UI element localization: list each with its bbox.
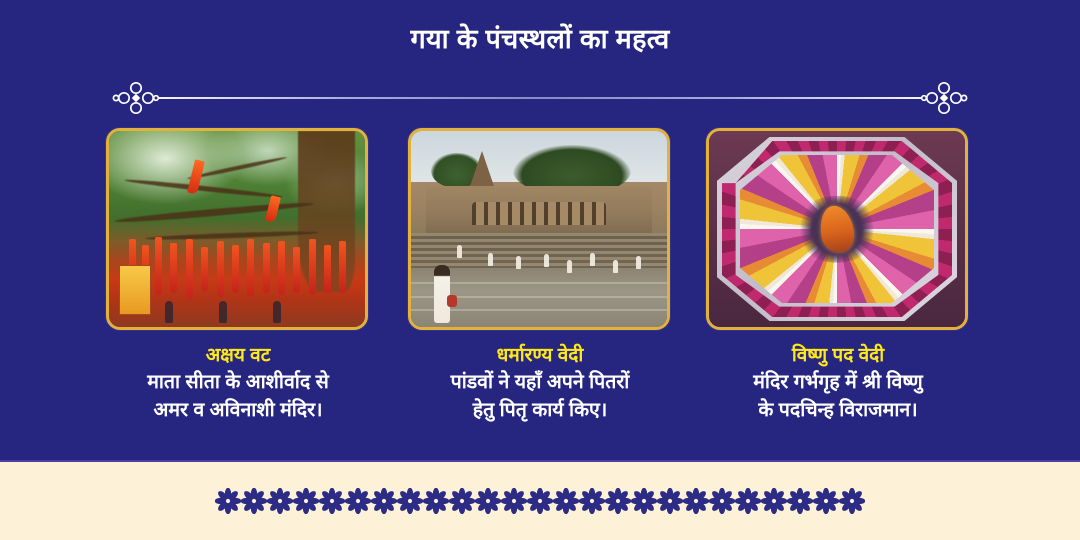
- flower-motif-icon: [839, 488, 865, 514]
- divider-line: [158, 97, 922, 99]
- flower-motif-icon: [501, 488, 527, 514]
- flower-motif-icon: [293, 488, 319, 514]
- footer-band: [0, 460, 1080, 540]
- flower-motif-icon: [735, 488, 761, 514]
- card-body-line1-1: माता सीता के आशीर्वाद से: [106, 369, 370, 396]
- card-body-line1-2: पांडवों ने यहाँ अपने पितरों: [408, 369, 672, 396]
- flower-motif-icon: [397, 488, 423, 514]
- photo-frame-1: [106, 128, 368, 330]
- flower-motif-icon: [371, 488, 397, 514]
- flower-motif-icon: [579, 488, 605, 514]
- flower-motif-icon: [267, 488, 293, 514]
- card-vishnupad-vedi: विष्णु पद वेदी मंदिर गर्भगृह में श्री वि…: [706, 128, 970, 424]
- flower-motif-icon: [631, 488, 657, 514]
- flower-motif-icon: [605, 488, 631, 514]
- ornament-knot-right-icon: [918, 80, 970, 116]
- flower-motif-icon: [657, 488, 683, 514]
- flower-motif-icon: [475, 488, 501, 514]
- card-body-line2-1: अमर व अविनाशी मंदिर।: [106, 397, 370, 424]
- flower-motif-icon: [319, 488, 345, 514]
- card-heading-1: अक्षय वट: [106, 343, 370, 368]
- decorative-divider: [110, 80, 970, 116]
- flower-motif-row: [0, 488, 1080, 514]
- card-body-line1-3: मंदिर गर्भगृह में श्री विष्णु: [706, 369, 970, 396]
- card-dharmaranya-vedi: धर्मारण्य वेदी पांडवों ने यहाँ अपने पितर…: [408, 128, 672, 424]
- flower-motif-icon: [215, 488, 241, 514]
- card-caption-2: धर्मारण्य वेदी पांडवों ने यहाँ अपने पितर…: [408, 343, 672, 424]
- card-caption-1: अक्षय वट माता सीता के आशीर्वाद से अमर व …: [106, 343, 370, 424]
- photo-frame-3: [706, 128, 968, 330]
- flower-motif-icon: [683, 488, 709, 514]
- akshay-vat-banyan-tree-photo: [109, 131, 365, 327]
- flower-motif-icon: [813, 488, 839, 514]
- card-body-line2-3: के पदचिन्ह विराजमान।: [706, 397, 970, 424]
- card-heading-2: धर्मारण्य वेदी: [408, 343, 672, 368]
- flower-motif-icon: [241, 488, 267, 514]
- card-body-line2-2: हेतु पितृ कार्य किए।: [408, 397, 672, 424]
- card-heading-3: विष्णु पद वेदी: [706, 343, 970, 368]
- flower-motif-icon: [787, 488, 813, 514]
- photo-frame-2: [408, 128, 670, 330]
- page-title: गया के पंचस्थलों का महत्व: [0, 22, 1080, 56]
- page-title-text: गया के पंचस्थलों का महत्व: [410, 22, 669, 56]
- flower-motif-icon: [423, 488, 449, 514]
- flower-motif-icon: [449, 488, 475, 514]
- flower-motif-icon: [709, 488, 735, 514]
- vishnupad-vedi-floral-mandala-photo: [709, 131, 965, 327]
- flower-motif-icon: [553, 488, 579, 514]
- card-akshay-vat: अक्षय वट माता सीता के आशीर्वाद से अमर व …: [106, 128, 370, 424]
- flower-motif-icon: [345, 488, 371, 514]
- flower-motif-icon: [761, 488, 787, 514]
- dharmaranya-vedi-ghat-photo: [411, 131, 667, 327]
- ornament-knot-left-icon: [110, 80, 162, 116]
- infographic-canvas: गया के पंचस्थलों का महत्व: [0, 0, 1080, 540]
- card-list: अक्षय वट माता सीता के आशीर्वाद से अमर व …: [0, 128, 1080, 448]
- flower-motif-icon: [527, 488, 553, 514]
- card-caption-3: विष्णु पद वेदी मंदिर गर्भगृह में श्री वि…: [706, 343, 970, 424]
